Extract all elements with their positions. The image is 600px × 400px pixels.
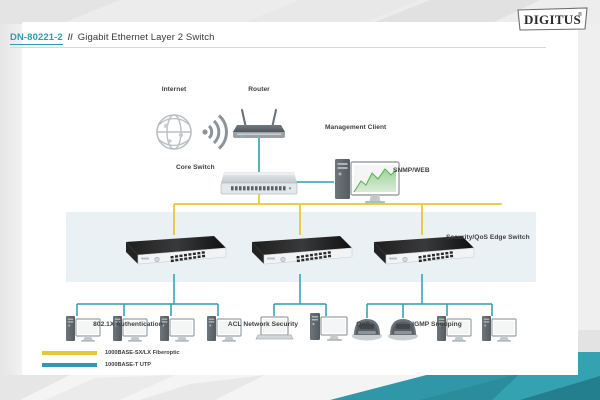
workstation-2-icon [113, 316, 147, 342]
cable-group1-drops [77, 304, 218, 316]
digitus-logo: DIGITUS ® [516, 7, 590, 32]
internet-globe-icon [157, 115, 191, 149]
workstation-4-icon [207, 316, 241, 342]
legend: 1000BASE-SX/LX Fiberoptic 1000BASE-T UTP [42, 348, 180, 372]
legend-label-utp: 1000BASE-T UTP [105, 362, 151, 368]
logo-wordmark: DIGITUS [524, 12, 581, 27]
router-icon [233, 110, 285, 138]
core-switch-icon [221, 172, 297, 194]
label-core-switch: Core Switch [176, 164, 215, 171]
label-group-8021x: 802.1X Authentication [93, 321, 163, 328]
header-divider [10, 47, 546, 48]
header-separator: // [68, 32, 73, 42]
label-group-acl: ACL Network Security [228, 321, 298, 328]
workstation-1-icon [66, 316, 100, 342]
legend-swatch-fiber [42, 351, 97, 355]
label-management-client: Management Client [325, 124, 386, 131]
label-edge-switch: Security/QoS Edge Switch [446, 234, 530, 241]
wireless-signal-icon [202, 116, 226, 149]
legend-item-utp: 1000BASE-T UTP [42, 360, 180, 369]
label-router: Router [248, 86, 270, 93]
logo-trademark-icon: ® [578, 11, 582, 18]
label-internet: Internet [162, 86, 187, 93]
screenshot-root: DIGITUS ® DN-80221-2 // Gigabit Ethernet… [0, 0, 600, 400]
management-client-icon [335, 159, 399, 203]
legend-item-fiber: 1000BASE-SX/LX Fiberoptic [42, 348, 180, 357]
legend-swatch-utp [42, 363, 97, 367]
desktop-icon [310, 313, 347, 341]
label-snmp-web: SNMP/WEB [393, 167, 430, 174]
workstation-3-icon [160, 316, 194, 342]
header: DN-80221-2 // Gigabit Ethernet Layer 2 S… [10, 32, 214, 45]
page-title: Gigabit Ethernet Layer 2 Switch [78, 32, 215, 43]
label-group-igmp: IGMP Snooping [412, 321, 462, 328]
igmp-workstation-2-icon [482, 316, 516, 342]
igmp-workstation-1-icon [437, 316, 471, 342]
cable-group34-drops [367, 304, 492, 318]
label-group-qos: QoS [356, 321, 370, 328]
model-number: DN-80221-2 [10, 32, 63, 45]
legend-label-fiber: 1000BASE-SX/LX Fiberoptic [105, 350, 180, 356]
